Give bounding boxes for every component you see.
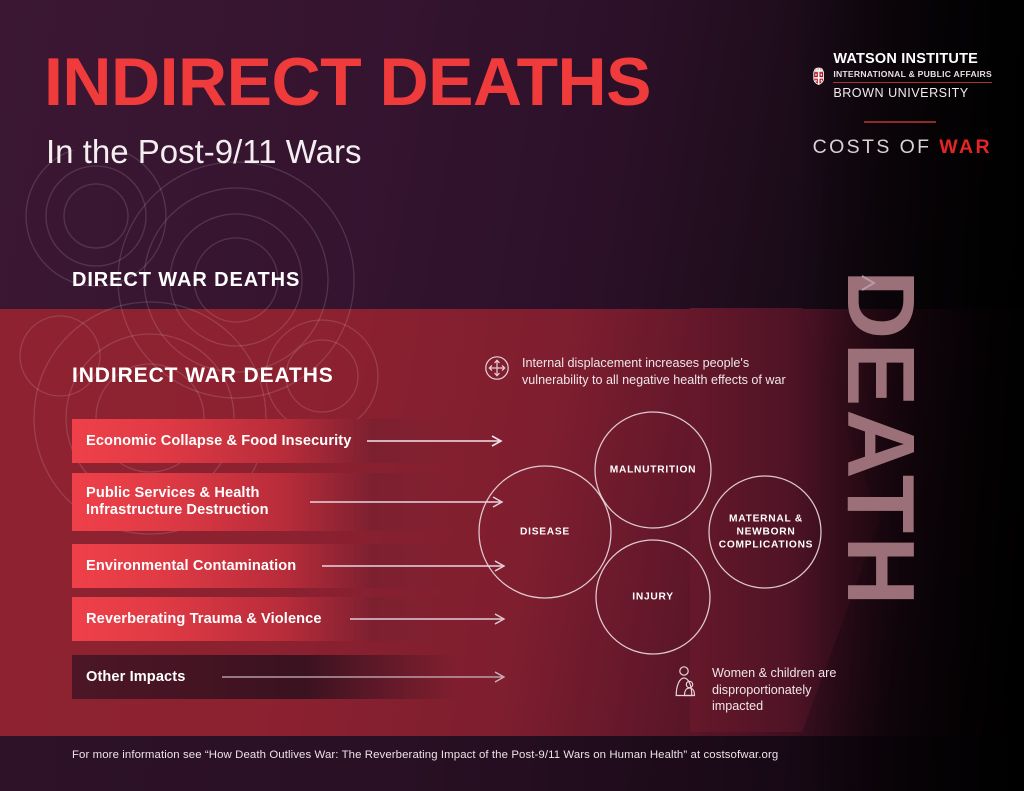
note-text: Women & children are disproportionately …	[712, 665, 836, 715]
impact-bar-other-impacts[interactable]: Other Impacts	[72, 655, 458, 699]
brown-university-shield-icon	[812, 48, 825, 104]
page-title: INDIRECT DEATHS	[44, 48, 651, 116]
impact-bar-label: Economic Collapse & Food Insecurity	[86, 433, 351, 450]
brand-line-brown: BROWN UNIVERSITY	[833, 85, 992, 101]
impact-bar-arrow	[310, 496, 510, 508]
footer-source-note: For more information see “How Death Outl…	[72, 749, 778, 761]
impact-bar-label: Environmental Contamination	[86, 558, 296, 575]
impact-bar-economic-collapse[interactable]: Economic Collapse & Food Insecurity	[72, 419, 458, 463]
brand-rule	[833, 82, 992, 83]
impact-bar-arrow	[350, 613, 512, 625]
mother-and-child-icon	[672, 665, 700, 699]
note-internal-displacement: Internal displacement increases people's…	[484, 355, 824, 388]
circle-label-maternal-newborn: MATERNAL & NEWBORN COMPLICATIONS	[719, 513, 813, 552]
circle-label-injury: INJURY	[632, 591, 673, 604]
death-word: DEATH	[834, 270, 926, 730]
note-women-children: Women & children are disproportionately …	[672, 665, 872, 715]
brand-line-ipa: INTERNATIONAL & PUBLIC AFFAIRS	[833, 68, 992, 80]
impact-bar-arrow	[367, 435, 507, 447]
note-text: Internal displacement increases people's…	[522, 355, 786, 388]
circle-label-malnutrition: MALNUTRITION	[610, 464, 697, 477]
impact-bar-reverberating-trauma[interactable]: Reverberating Trauma & Violence	[72, 597, 458, 641]
direct-war-deaths-label: DIRECT WAR DEATHS	[72, 269, 300, 292]
costs-of-war-highlight: WAR	[939, 136, 992, 158]
health-outcomes-circles: DISEASE MALNUTRITION MATERNAL & NEWBORN …	[465, 400, 825, 670]
displacement-arrows-icon	[484, 355, 510, 381]
impact-bar-arrow	[322, 560, 512, 572]
impact-bar-label: Other Impacts	[86, 669, 185, 686]
impact-bar-environmental-contamination[interactable]: Environmental Contamination	[72, 544, 458, 588]
indirect-war-deaths-label: INDIRECT WAR DEATHS	[72, 364, 334, 388]
background-band-bottom	[0, 736, 1024, 791]
page-subtitle: In the Post-9/11 Wars	[46, 133, 361, 171]
brand-line-watson: WATSON INSTITUTE	[833, 51, 992, 68]
impact-bar-public-services[interactable]: Public Services & Health Infrastructure …	[72, 473, 458, 531]
impact-bar-label: Public Services & Health Infrastructure …	[86, 485, 269, 519]
costs-of-war-prefix: COSTS OF	[813, 136, 940, 158]
impact-bar-label: Reverberating Trauma & Violence	[86, 611, 322, 628]
costs-of-war-wordmark: COSTS OF WAR	[812, 136, 992, 159]
direct-deaths-arrow	[312, 272, 882, 294]
circle-label-disease: DISEASE	[520, 526, 570, 539]
impact-bar-arrow	[222, 671, 512, 683]
brand-lockup: WATSON INSTITUTE INTERNATIONAL & PUBLIC …	[812, 48, 992, 123]
brand-divider	[864, 121, 936, 123]
infographic-poster: DEATH INDIRECT DEATHS In the Post-9/11 W…	[0, 0, 1024, 791]
